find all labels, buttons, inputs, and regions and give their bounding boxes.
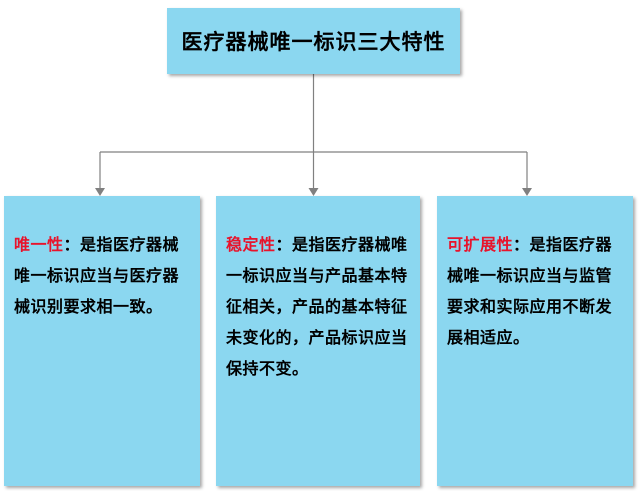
child-node-uniqueness[interactable]: 唯一性：是指医疗器械唯一标识应当与医疗器械识别要求相一致。 (4, 196, 200, 486)
child-node-body: ：是指医疗器械唯一标识应当与产品基本特征相关，产品的基本特征未变化的，产品标识应… (226, 237, 408, 378)
child-node-stability[interactable]: 稳定性：是指医疗器械唯一标识应当与产品基本特征相关，产品的基本特征未变化的，产品… (216, 196, 420, 486)
child-node-text: 唯一性：是指医疗器械唯一标识应当与医疗器械识别要求相一致。 (14, 230, 190, 323)
child-node-text: 稳定性：是指医疗器械唯一标识应当与产品基本特征相关，产品的基本特征未变化的，产品… (226, 230, 410, 385)
root-node[interactable]: 医疗器械唯一标识三大特性 (167, 8, 460, 74)
child-node-term: 稳定性 (226, 237, 276, 254)
child-node-extensibility[interactable]: 可扩展性：是指医疗器械唯一标识应当与监管要求和实际应用不断发展相适应。 (437, 196, 633, 486)
child-node-text: 可扩展性：是指医疗器械唯一标识应当与监管要求和实际应用不断发展相适应。 (447, 230, 623, 354)
child-node-term: 唯一性 (14, 237, 64, 254)
root-node-label: 医疗器械唯一标识三大特性 (182, 26, 446, 56)
diagram-canvas: 医疗器械唯一标识三大特性 唯一性：是指医疗器械唯一标识应当与医疗器械识别要求相一… (0, 0, 640, 491)
child-node-term: 可扩展性 (447, 237, 513, 254)
